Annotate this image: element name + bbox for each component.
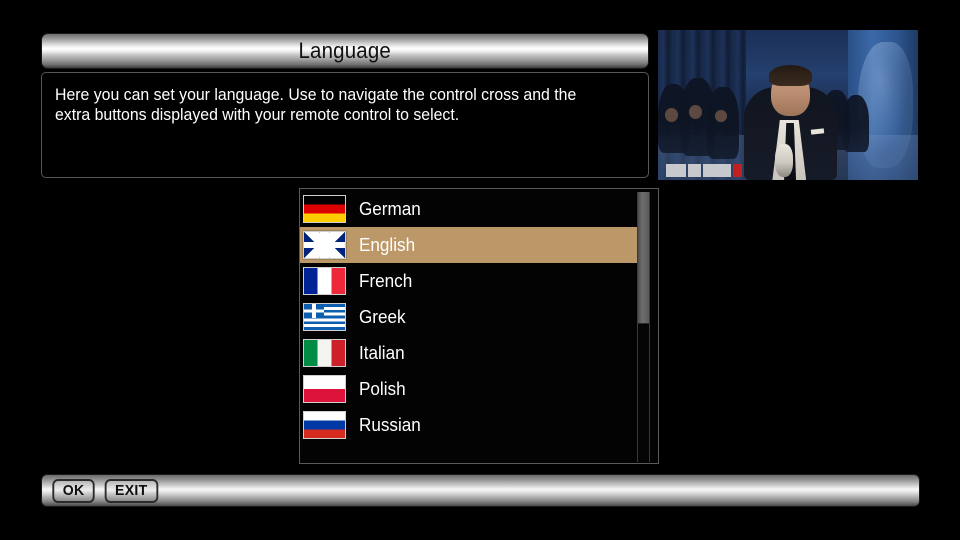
title-bar: Language [41,33,649,69]
language-label: English [359,235,415,256]
language-list: German English French Greek Italian Poli [300,191,641,443]
video-microphone [775,144,793,177]
video-reporter-hair [769,65,812,86]
video-crowd-figure [707,87,738,159]
flag-russia-icon [303,411,346,439]
language-label: Polish [359,379,406,400]
flag-france-icon [303,267,346,295]
description-panel: Here you can set your language. Use to n… [41,72,649,178]
list-item[interactable]: Greek [300,299,641,335]
bottom-button-bar: OK EXIT [41,474,920,507]
exit-button[interactable]: EXIT [105,479,158,503]
list-item[interactable]: Polish [300,371,641,407]
scrollbar-thumb[interactable] [638,192,649,324]
list-item[interactable]: English [300,227,641,263]
tv-settings-screen: Language Here you can set your language.… [0,0,960,540]
ok-button[interactable]: OK [52,479,94,503]
video-crowd-head [689,105,702,119]
description-text: Here you can set your language. Use to n… [55,85,611,125]
flag-germany-icon [303,195,346,223]
video-crowd-head [665,108,678,122]
language-label: Greek [359,307,406,328]
video-crowd-figure [843,95,869,152]
list-item[interactable]: French [300,263,641,299]
flag-united-kingdom-icon [303,231,346,259]
language-label: French [359,271,412,292]
list-item[interactable]: German [300,191,641,227]
scrollbar[interactable] [637,192,650,462]
page-title: Language [299,38,392,64]
video-crowd-head [715,110,727,122]
language-list-panel: German English French Greek Italian Poli [299,188,659,464]
language-label: Italian [359,343,405,364]
language-label: Russian [359,415,421,436]
flag-greece-icon [303,303,346,331]
list-item[interactable]: Italian [300,335,641,371]
list-item[interactable]: Russian [300,407,641,443]
language-label: German [359,199,421,220]
news-channel-logo [666,164,749,178]
flag-italy-icon [303,339,346,367]
flag-poland-icon [303,375,346,403]
video-preview[interactable] [658,30,918,180]
